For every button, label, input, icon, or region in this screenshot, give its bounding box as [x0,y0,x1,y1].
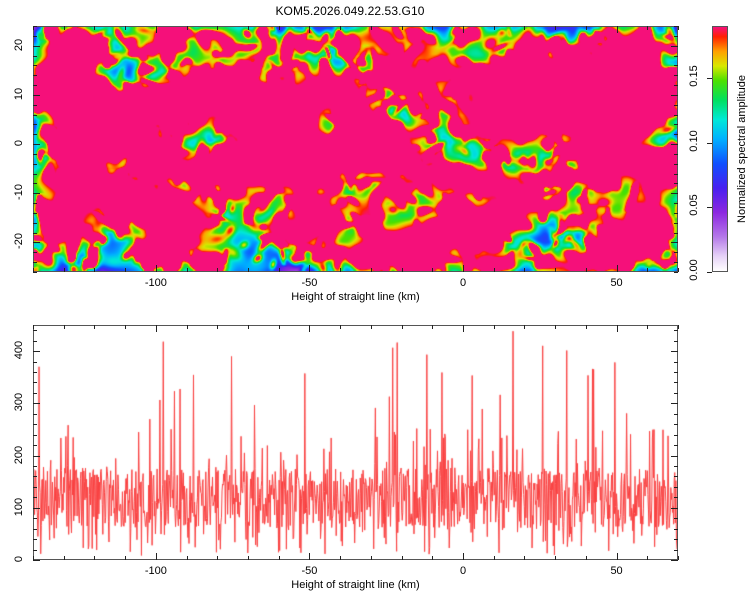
axis-tick [33,144,40,145]
axis-tick [494,26,495,30]
axis-tick [674,262,678,263]
axis-tick [674,233,678,234]
axis-tick [94,268,95,272]
axis-tick [33,242,40,243]
axis-tick [678,268,679,272]
axis-tick [463,265,464,272]
axis-tick [217,26,218,30]
axis-tick [674,529,678,530]
axis-tick [187,556,188,560]
spectrogram-panel [33,26,678,272]
axis-tick [671,351,678,352]
axis-tick [94,556,95,560]
axis-tick [33,330,37,331]
axis-tick [33,435,37,436]
axis-tick [555,268,556,272]
axis-tick [674,550,678,551]
axis-tick [33,252,37,253]
axis-tick [555,556,556,560]
axis-tick [674,466,678,467]
axis-tick [33,85,37,86]
axis-tick [674,518,678,519]
axis-tick [463,553,464,560]
axis-tick [33,183,37,184]
axis-tick [494,325,495,329]
axis-tick [647,26,648,30]
axis-tick [33,36,37,37]
spectrogram-x-axis-label: Height of straight line (km) [266,291,446,303]
axis-tick [64,556,65,560]
y-tick-label: -20 [13,231,25,251]
axis-tick [671,456,678,457]
axis-tick [125,268,126,272]
axis-tick [33,134,37,135]
colorbar-tick-label: 0.15 [688,62,700,90]
axis-tick [647,556,648,560]
axis-tick [555,325,556,329]
axis-tick [248,325,249,329]
axis-tick [33,105,37,106]
axis-tick [402,325,403,329]
axis-tick [647,268,648,272]
axis-tick [674,414,678,415]
x-tick-label: -50 [279,565,339,577]
y-tick-label: 0 [13,549,25,569]
axis-tick [279,325,280,329]
axis-tick [494,556,495,560]
axis-tick [33,341,37,342]
y-tick-label: 100 [13,497,25,517]
y-tick-label: 0 [13,133,25,153]
axis-tick [33,233,37,234]
axis-tick [555,26,556,30]
axis-tick [674,372,678,373]
axis-tick [617,325,618,332]
axis-tick [309,553,310,560]
colorbar-tick [707,78,712,79]
axis-tick [524,556,525,560]
axis-tick [674,36,678,37]
axis-tick [33,529,37,530]
snr-x-axis-label: Height of straight line (km) [266,579,446,591]
axis-tick [217,268,218,272]
axis-tick [463,325,464,332]
axis-tick [494,268,495,272]
axis-tick [671,560,678,561]
axis-tick [340,556,341,560]
axis-tick [674,445,678,446]
axis-tick [340,268,341,272]
spectrogram-image [34,27,677,271]
axis-tick [647,325,648,329]
axis-tick [586,26,587,30]
axis-tick [674,134,678,135]
axis-tick [674,362,678,363]
axis-tick [678,26,679,30]
axis-tick [64,268,65,272]
axis-tick [674,252,678,253]
axis-tick [248,26,249,30]
snr-trace [34,326,677,559]
axis-tick [674,154,678,155]
axis-tick [309,265,310,272]
axis-tick [671,193,678,194]
axis-tick [33,213,37,214]
axis-tick [309,325,310,332]
axis-tick [33,382,37,383]
axis-tick [674,341,678,342]
axis-tick [674,382,678,383]
axis-tick [309,26,310,33]
colorbar-tick [707,143,712,144]
colorbar-tick [707,272,712,273]
x-tick-label: 50 [587,565,647,577]
axis-tick [33,560,40,561]
axis-tick [33,65,37,66]
y-tick-label: 200 [13,445,25,465]
axis-tick [125,26,126,30]
axis-tick [33,56,37,57]
axis-tick [674,476,678,477]
axis-tick [340,26,341,30]
axis-tick [33,46,40,47]
axis-tick [33,393,37,394]
axis-tick [674,203,678,204]
axis-tick [674,497,678,498]
axis-tick [33,466,37,467]
axis-tick [432,268,433,272]
axis-tick [187,268,188,272]
axis-tick [33,193,40,194]
axis-tick [33,115,37,116]
axis-tick [33,403,40,404]
y-tick-label: 20 [13,35,25,55]
axis-tick [524,268,525,272]
axis-tick [217,325,218,329]
axis-tick [674,330,678,331]
axis-tick [33,325,34,329]
axis-tick [432,556,433,560]
y-tick-label: 400 [13,340,25,360]
axis-tick [671,144,678,145]
colorbar-gradient [713,27,727,271]
axis-tick [33,518,37,519]
axis-tick [156,26,157,33]
colorbar-tick-label: 0.05 [688,191,700,219]
axis-tick [33,372,37,373]
axis-tick [33,351,40,352]
axis-tick [33,95,40,96]
axis-tick [402,268,403,272]
axis-tick [33,75,37,76]
x-tick-label: -100 [126,565,186,577]
axis-tick [674,393,678,394]
axis-tick [586,268,587,272]
axis-tick [33,487,37,488]
axis-tick [402,26,403,30]
axis-tick [674,75,678,76]
snr-panel [33,325,678,560]
axis-tick [671,403,678,404]
axis-tick [674,56,678,57]
axis-tick [402,556,403,560]
axis-tick [64,325,65,329]
axis-tick [463,26,464,33]
axis-tick [524,325,525,329]
axis-tick [187,325,188,329]
y-tick-label: -10 [13,182,25,202]
axis-tick [678,556,679,560]
axis-tick [279,268,280,272]
axis-tick [33,174,37,175]
axis-tick [617,553,618,560]
axis-tick [674,124,678,125]
axis-tick [279,26,280,30]
axis-tick [617,26,618,33]
axis-tick [371,26,372,30]
axis-tick [674,435,678,436]
x-tick-label: 0 [433,277,493,289]
axis-tick [94,325,95,329]
axis-tick [586,556,587,560]
axis-tick [33,164,37,165]
axis-tick [617,265,618,272]
axis-tick [432,26,433,30]
y-tick-label: 10 [13,84,25,104]
axis-tick [33,445,37,446]
x-tick-label: -50 [279,277,339,289]
axis-tick [674,487,678,488]
axis-tick [671,95,678,96]
x-tick-label: -100 [126,277,186,289]
axis-tick [125,325,126,329]
axis-tick [156,325,157,332]
axis-tick [524,26,525,30]
y-tick-label: 300 [13,392,25,412]
axis-tick [279,556,280,560]
colorbar [712,26,728,272]
axis-tick [432,325,433,329]
x-tick-label: 50 [587,277,647,289]
axis-tick [33,550,37,551]
axis-tick [371,325,372,329]
axis-tick [674,26,678,27]
axis-tick [674,164,678,165]
axis-tick [674,115,678,116]
axis-tick [671,242,678,243]
axis-tick [33,203,37,204]
axis-tick [674,183,678,184]
axis-tick [33,262,37,263]
axis-tick [671,508,678,509]
axis-tick [125,556,126,560]
axis-tick [33,223,37,224]
axis-tick [586,325,587,329]
page-title: KOM5.2026.049.22.53.G10 [0,4,700,18]
axis-tick [674,424,678,425]
axis-tick [674,174,678,175]
axis-tick [371,556,372,560]
axis-tick [217,556,218,560]
colorbar-tick [707,207,712,208]
axis-tick [33,497,37,498]
axis-tick [674,213,678,214]
axis-tick [671,46,678,47]
axis-tick [33,26,37,27]
axis-tick [156,553,157,560]
axis-tick [33,508,40,509]
axis-tick [33,362,37,363]
axis-tick [33,414,37,415]
colorbar-tick-label: 0.10 [688,127,700,155]
axis-tick [33,539,37,540]
axis-tick [33,154,37,155]
axis-tick [33,456,40,457]
axis-tick [33,476,37,477]
axis-tick [674,65,678,66]
axis-tick [94,26,95,30]
colorbar-label: Normalized spectral amplitude [736,75,748,223]
x-tick-label: 0 [433,565,493,577]
axis-tick [371,268,372,272]
axis-tick [33,124,37,125]
axis-tick [248,268,249,272]
axis-tick [674,539,678,540]
axis-tick [674,105,678,106]
axis-tick [187,26,188,30]
axis-tick [674,272,678,273]
axis-tick [156,265,157,272]
axis-tick [674,223,678,224]
axis-tick [674,85,678,86]
axis-tick [64,26,65,30]
axis-tick [33,272,37,273]
colorbar-tick-label: 0.00 [688,256,700,284]
axis-tick [33,424,37,425]
axis-tick [340,325,341,329]
axis-tick [248,556,249,560]
axis-tick [678,325,679,329]
